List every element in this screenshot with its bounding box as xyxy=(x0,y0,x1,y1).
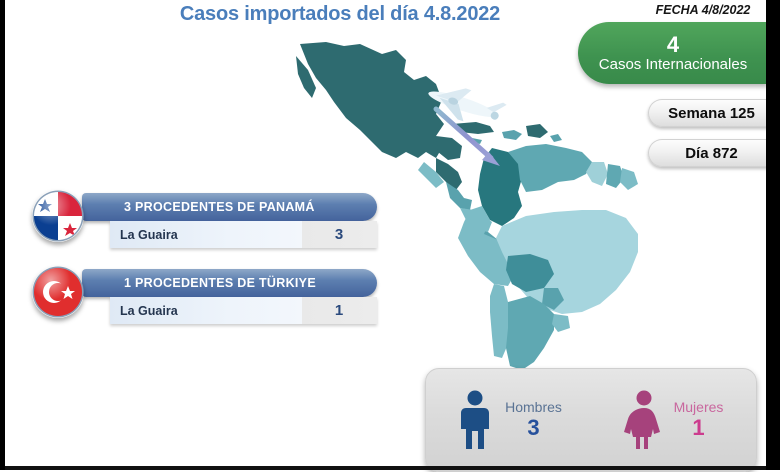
gender-cell-female: Mujeres 1 xyxy=(591,389,756,451)
gender-cell-male: Hombres 3 xyxy=(426,389,591,451)
frame-right-border xyxy=(766,0,780,470)
page-title: Casos importados del día 4.8.2022 xyxy=(140,0,540,28)
turkiye-flag-icon xyxy=(32,266,84,318)
international-cases-count: 4 xyxy=(667,33,679,56)
map-country-venezuela xyxy=(508,144,592,192)
panama-flag-icon xyxy=(32,190,84,242)
origin-header-panama[interactable]: 3 PROCEDENTES DE PANAMÁ xyxy=(82,193,377,221)
origin-count: 3 xyxy=(301,226,377,243)
frame-left-border xyxy=(0,0,5,470)
male-label: Hombres xyxy=(505,399,562,415)
table-row[interactable]: La Guaira 1 xyxy=(110,297,377,324)
origin-title-panama: 3 PROCEDENTES DE PANAMÁ xyxy=(82,200,315,214)
female-count: 1 xyxy=(692,415,704,440)
origin-title-turkiye: 1 PROCEDENTES DE TÜRKIYE xyxy=(82,276,316,290)
female-label: Mujeres xyxy=(674,399,724,415)
week-pill[interactable]: Semana 125 xyxy=(648,99,774,127)
origin-place: La Guaira xyxy=(110,304,301,318)
origin-count: 1 xyxy=(301,302,377,319)
map-country-french-guiana xyxy=(620,168,638,190)
origin-header-turkiye[interactable]: 1 PROCEDENTES DE TÜRKIYE xyxy=(82,269,377,297)
female-figure-icon xyxy=(624,389,664,451)
map-country-mexico xyxy=(296,42,462,160)
male-count: 3 xyxy=(527,415,539,440)
date-label: FECHA 4/8/2022 xyxy=(640,2,766,18)
table-row[interactable]: La Guaira 3 xyxy=(110,221,377,248)
male-figure-icon xyxy=(455,389,495,451)
map-country-argentina xyxy=(506,296,554,370)
map-country-uruguay xyxy=(552,314,570,332)
origin-place: La Guaira xyxy=(110,228,301,242)
frame-bottom-border xyxy=(0,466,780,470)
gender-panel: Hombres 3 Mujeres 1 xyxy=(425,368,757,472)
day-pill[interactable]: Día 872 xyxy=(648,139,774,167)
